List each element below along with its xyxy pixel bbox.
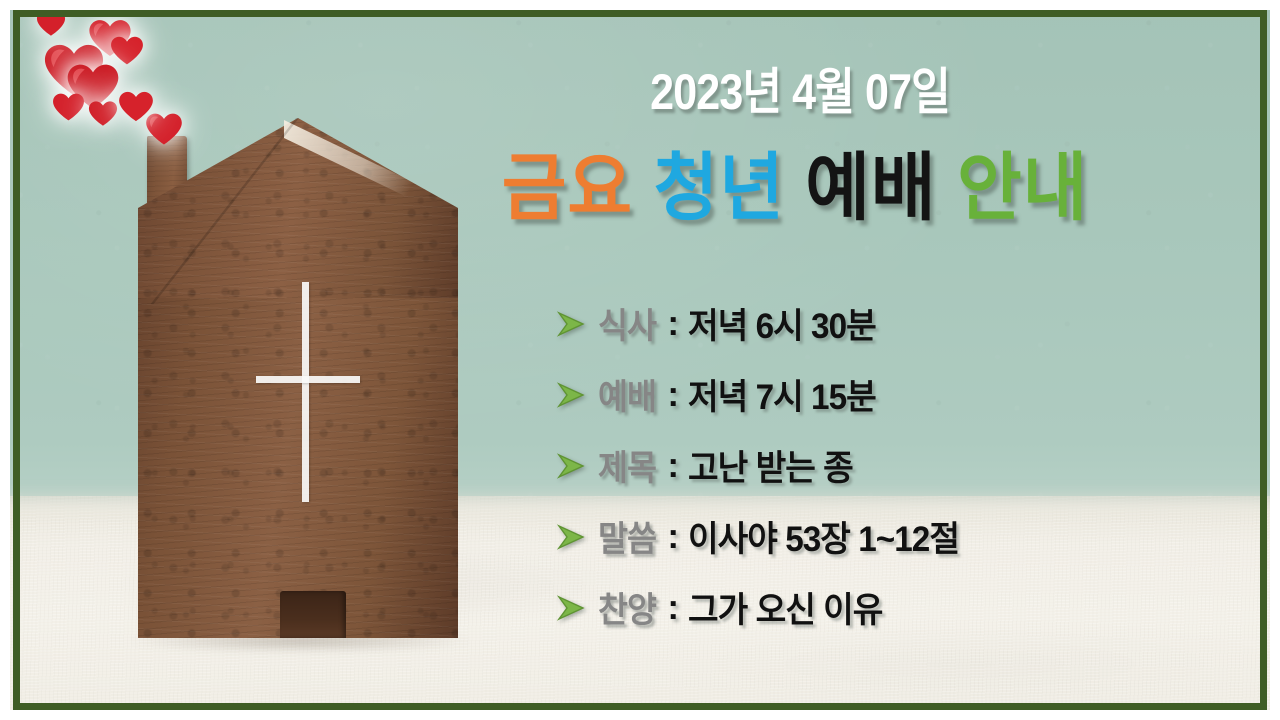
list-item: 제목 : 고난 받는 종 <box>556 430 1196 501</box>
info-colon: : <box>660 446 688 486</box>
title-word-guide: 안내 <box>957 146 1088 229</box>
worship-announcement-poster: 2023년 4월 07일 금요 청년 예배 안내 식사 : 저녁 6시 30분 … <box>0 0 1280 720</box>
main-title: 금요 청년 예배 안내 <box>401 128 1190 235</box>
list-item: 예배 : 저녁 7시 15분 <box>556 359 1196 430</box>
info-value: 저녁 7시 15분 <box>688 369 876 420</box>
church-door <box>280 591 346 638</box>
service-info-list: 식사 : 저녁 6시 30분 예배 : 저녁 7시 15분 제목 : 고난 받는… <box>556 288 1196 643</box>
info-colon: : <box>660 517 688 557</box>
info-label: 말씀 <box>598 511 656 562</box>
info-label: 찬양 <box>598 582 656 633</box>
list-item: 식사 : 저녁 6시 30분 <box>556 288 1196 359</box>
green-arrow-bullet-icon <box>556 595 598 621</box>
info-value: 이사야 53장 1~12절 <box>688 511 959 562</box>
info-value: 고난 받는 종 <box>688 440 853 491</box>
info-colon: : <box>660 588 688 628</box>
facade-wood-texture <box>138 298 458 638</box>
white-cross-icon <box>302 282 309 502</box>
white-cross-crossbar-icon <box>256 376 360 383</box>
church-facade <box>138 298 458 638</box>
info-label: 식사 <box>598 298 656 349</box>
title-word-worship: 예배 <box>805 146 936 229</box>
list-item: 찬양 : 그가 오신 이유 <box>556 572 1196 643</box>
info-colon: : <box>660 304 688 344</box>
green-arrow-bullet-icon <box>556 524 598 550</box>
green-arrow-bullet-icon <box>556 382 598 408</box>
info-value: 그가 오신 이유 <box>688 582 882 633</box>
green-arrow-bullet-icon <box>556 311 598 337</box>
title-word-friday: 금요 <box>502 146 633 229</box>
heart-icon <box>88 100 118 127</box>
date-heading: 2023년 4월 07일 <box>456 52 1144 124</box>
heart-icon <box>118 90 154 123</box>
title-word-youth: 청년 <box>653 146 784 229</box>
info-colon: : <box>660 375 688 415</box>
heart-icon <box>52 92 85 122</box>
floating-hearts-group <box>0 0 260 220</box>
info-label: 제목 <box>598 440 656 491</box>
info-value: 저녁 6시 30분 <box>688 298 876 349</box>
green-arrow-bullet-icon <box>556 453 598 479</box>
list-item: 말씀 : 이사야 53장 1~12절 <box>556 501 1196 572</box>
info-label: 예배 <box>598 369 656 420</box>
heart-icon <box>36 10 66 37</box>
